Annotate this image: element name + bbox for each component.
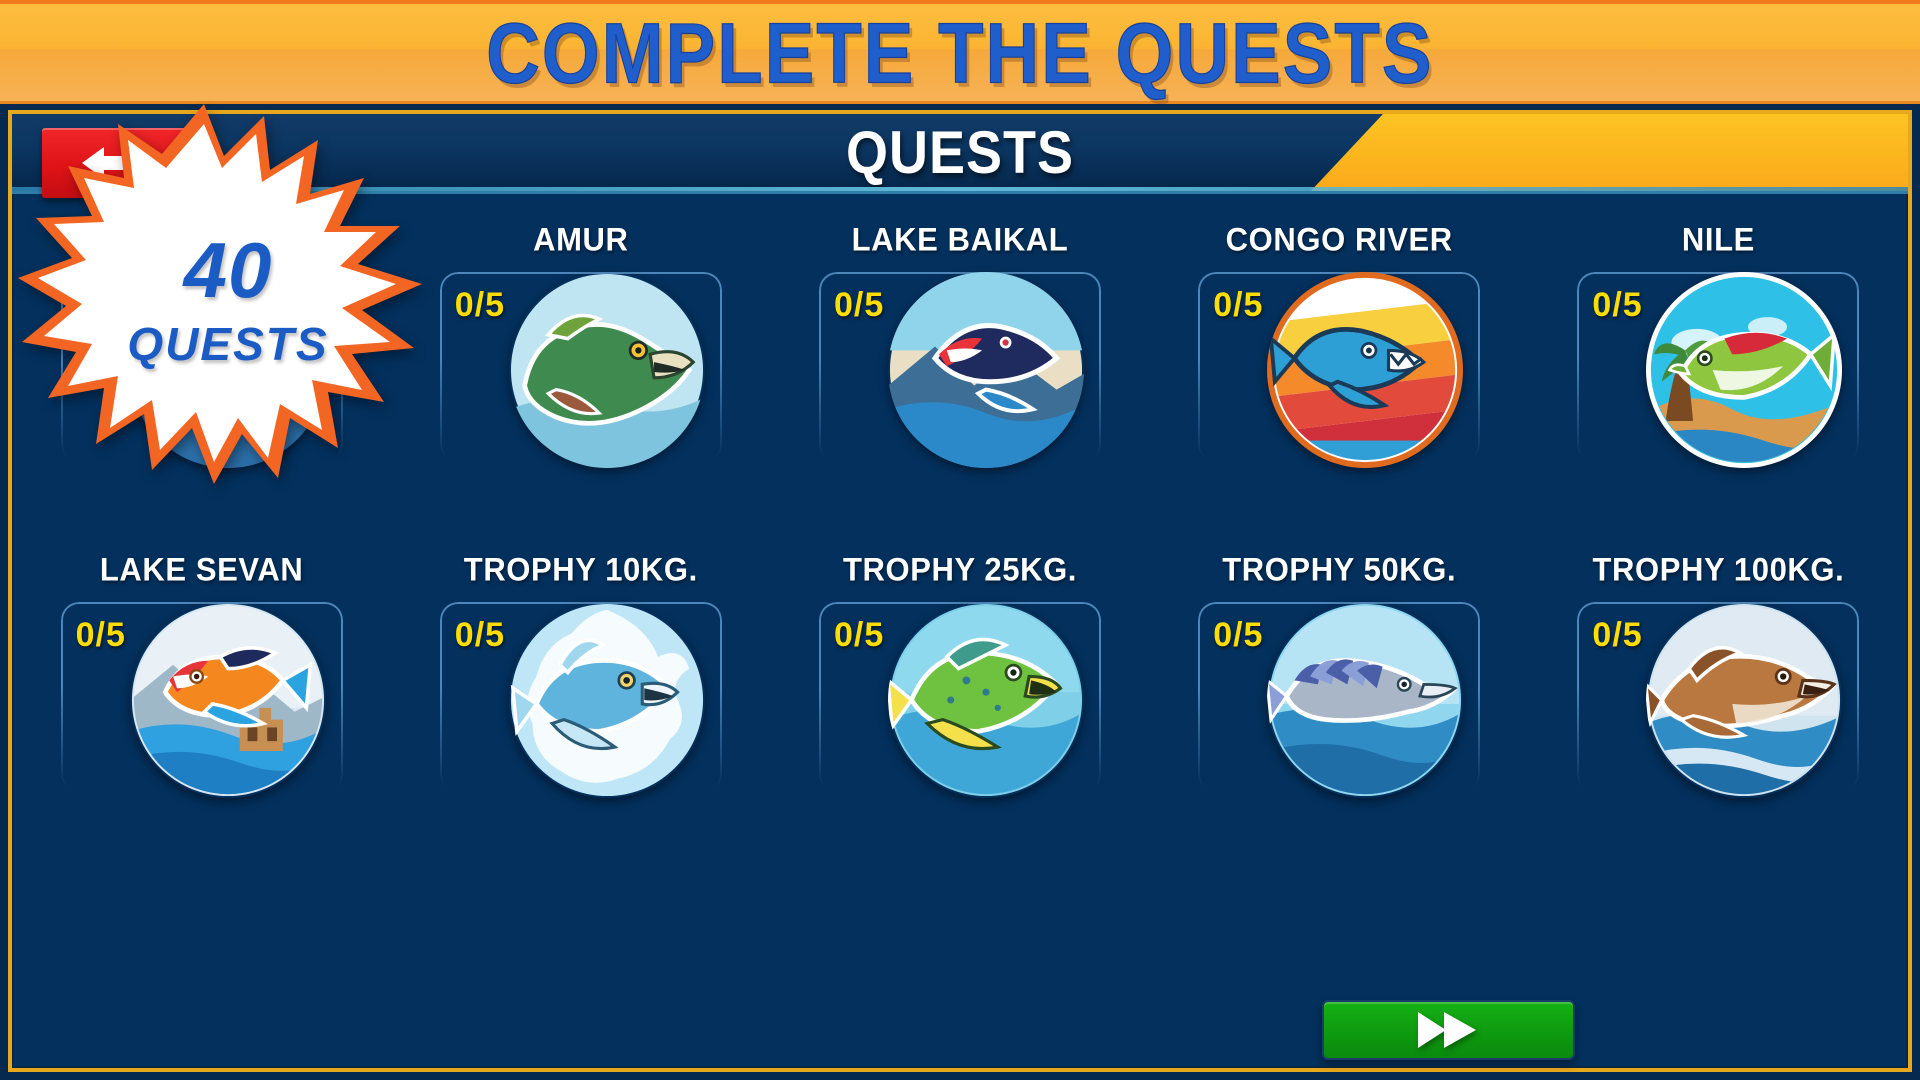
back-arrow-icon <box>78 143 152 183</box>
fish-badge-trophy-100 <box>1646 602 1842 798</box>
quest-label: LAKE SEVAN <box>100 551 304 589</box>
fish-badge-congo <box>1267 272 1463 468</box>
quest-card[interactable]: LAKE SEVAN 0/5 <box>12 540 391 870</box>
fish-badge-trophy-10 <box>509 602 705 798</box>
page-title: QUESTS <box>846 118 1074 187</box>
fish-badge-trophy-25 <box>888 602 1084 798</box>
fish-badge-trophy-50 <box>1267 602 1463 798</box>
quests-panel: QUESTS AMUR 0/5 <box>8 110 1912 1072</box>
next-button[interactable] <box>1322 1000 1575 1060</box>
quest-counter: 0/5 <box>1592 286 1642 325</box>
panel-header: QUESTS <box>12 114 1908 194</box>
quest-card[interactable]: AMUR 0/5 <box>12 210 391 540</box>
quest-card[interactable]: LAKE BAIKAL 0/5 <box>770 210 1149 540</box>
quest-counter: 0/5 <box>76 616 126 655</box>
corner-tab <box>1308 114 1908 194</box>
quest-counter: 0/5 <box>76 286 126 325</box>
back-button[interactable] <box>42 128 187 198</box>
quest-card[interactable]: TROPHY 10KG. 0/5 <box>391 540 770 870</box>
quest-grid: AMUR 0/5 AMUR <box>12 210 1908 870</box>
quest-counter: 0/5 <box>1592 616 1642 655</box>
quest-counter: 0/5 <box>1213 616 1263 655</box>
quest-card[interactable]: AMUR 0/5 <box>391 210 770 540</box>
quest-label: TROPHY 50KG. <box>1222 551 1456 589</box>
quest-card[interactable]: NILE 0/5 <box>1529 210 1908 540</box>
quest-card[interactable]: CONGO RIVER 0/5 <box>1150 210 1529 540</box>
quest-label: AMUR <box>533 221 628 259</box>
quest-counter: 0/5 <box>834 286 884 325</box>
quest-counter: 0/5 <box>834 616 884 655</box>
quest-card[interactable]: TROPHY 100KG. 0/5 <box>1529 540 1908 870</box>
quest-row: AMUR 0/5 AMUR <box>12 210 1908 540</box>
quest-label: NILE <box>1682 221 1755 259</box>
fish-badge-green-bass <box>509 272 705 468</box>
quest-counter: 0/5 <box>1213 286 1263 325</box>
fish-badge-amur <box>130 272 326 468</box>
top-banner: COMPLETE THE QUESTS <box>0 0 1920 104</box>
fast-forward-icon <box>1414 1009 1484 1051</box>
quest-card[interactable]: TROPHY 25KG. 0/5 <box>770 540 1149 870</box>
quest-label: CONGO RIVER <box>1226 221 1453 259</box>
quest-counter: 0/5 <box>455 286 505 325</box>
fish-badge-sevan <box>130 602 326 798</box>
quest-card[interactable]: TROPHY 50KG. 0/5 <box>1150 540 1529 870</box>
quest-row: LAKE SEVAN 0/5 <box>12 540 1908 870</box>
quest-label: AMUR <box>154 221 249 259</box>
quest-label: LAKE BAIKAL <box>852 221 1069 259</box>
quest-counter: 0/5 <box>455 616 505 655</box>
quest-label: TROPHY 100KG. <box>1592 551 1844 589</box>
banner-title: COMPLETE THE QUESTS <box>486 4 1433 102</box>
fish-badge-baikal <box>888 272 1084 468</box>
fish-badge-nile <box>1646 272 1842 468</box>
quest-label: TROPHY 25KG. <box>843 551 1077 589</box>
quest-label: TROPHY 10KG. <box>464 551 698 589</box>
game-screen: COMPLETE THE QUESTS QUESTS AMUR 0/5 <box>0 0 1920 1080</box>
